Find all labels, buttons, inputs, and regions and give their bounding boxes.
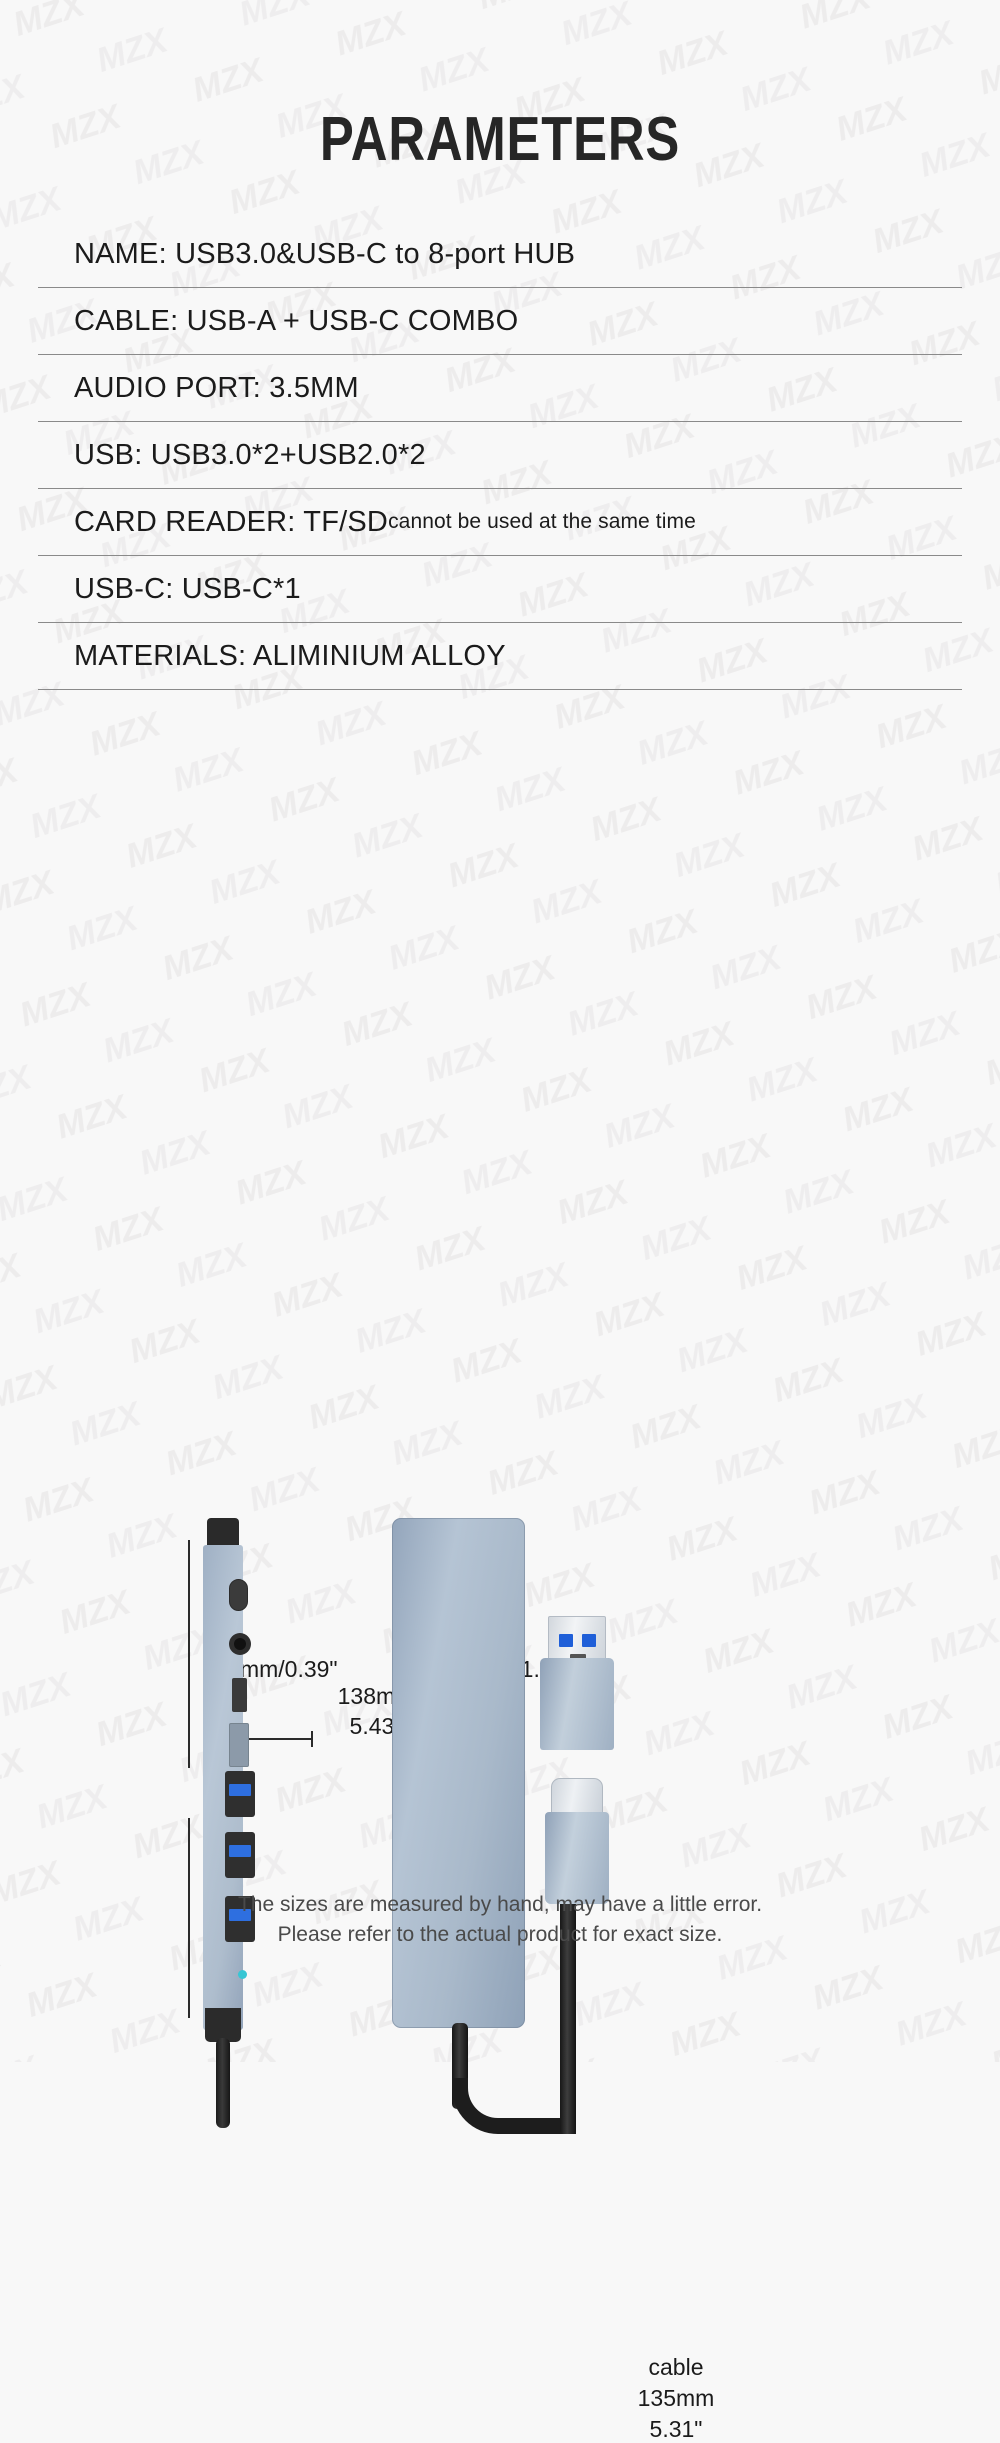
table-row: CARD READER: TF/SDcannot be used at the …: [38, 489, 962, 556]
footer-disclaimer: The sizes are measured by hand, may have…: [0, 1890, 1000, 1950]
spec-text-materials: MATERIALS: ALIMINIUM ALLOY: [74, 640, 506, 673]
side-view-cable-stub: [216, 2038, 230, 2128]
spec-text-card-reader: CARD READER: TF/SD: [74, 506, 388, 539]
product-dimension-diagram: 10mm/0.39" 28mm/1.10" 138mm 5.43": [0, 718, 1000, 1498]
port-sd-card-slot: [229, 1723, 249, 1767]
usb-blue-insert: [229, 1845, 251, 1857]
table-row: MATERIALS: ALIMINIUM ALLOY: [38, 623, 962, 690]
footer-line-1: The sizes are measured by hand, may have…: [0, 1890, 1000, 1920]
port-audio-jack: [229, 1633, 251, 1655]
table-row: USB-C: USB-C*1: [38, 556, 962, 623]
cable-label: cable: [576, 2354, 776, 2381]
side-view-top-cap: [207, 1518, 239, 1546]
cable-length-mm-label: 135mm: [576, 2385, 776, 2412]
port-usb-c-side: [229, 1579, 248, 1611]
page-title: PARAMETERS: [90, 0, 910, 175]
dimension-line-height-upper: [188, 1540, 190, 1768]
table-row: USB: USB3.0*2+USB2.0*2: [38, 422, 962, 489]
spec-text-cable: CABLE: USB-A + USB-C COMBO: [74, 305, 518, 338]
table-row: NAME: USB3.0&USB-C to 8-port HUB: [38, 221, 962, 288]
port-usb-a-2: [225, 1832, 255, 1878]
usb-a-blue-contact-left: [559, 1634, 573, 1647]
usb-a-blue-contact-right: [582, 1634, 596, 1647]
hub-body-top-view: [392, 1518, 525, 2028]
footer-line-2: Please refer to the actual product for e…: [0, 1920, 1000, 1950]
spec-text-audio-port: AUDIO PORT: 3.5MM: [74, 372, 359, 405]
table-row: AUDIO PORT: 3.5MM: [38, 355, 962, 422]
product-parameters-page: PARAMETERS NAME: USB3.0&USB-C to 8-port …: [0, 0, 1000, 2062]
table-row: CABLE: USB-A + USB-C COMBO: [38, 288, 962, 355]
side-view-bottom-cap: [205, 2008, 241, 2042]
hub-cable-bend: [452, 2078, 576, 2134]
usb-blue-insert: [229, 1784, 251, 1796]
usb-a-connector-housing: [540, 1658, 614, 1750]
port-tf-card-slot: [232, 1678, 247, 1712]
led-indicator: [238, 1970, 247, 1979]
specifications-table: NAME: USB3.0&USB-C to 8-port HUB CABLE: …: [38, 221, 962, 690]
spec-note-card-reader: cannot be used at the same time: [388, 510, 696, 534]
cable-length-in-label: 5.31": [576, 2416, 776, 2443]
spec-text-usb-c: USB-C: USB-C*1: [74, 573, 301, 606]
spec-text-name: NAME: USB3.0&USB-C to 8-port HUB: [74, 238, 575, 271]
port-usb-a-1: [225, 1771, 255, 1817]
spec-text-usb: USB: USB3.0*2+USB2.0*2: [74, 439, 426, 472]
